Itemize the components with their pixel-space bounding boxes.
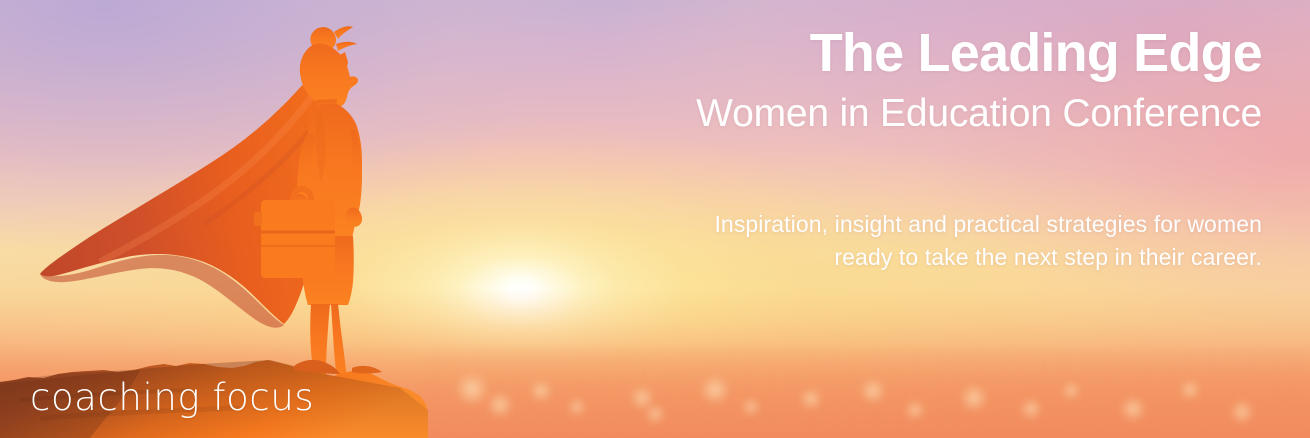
conference-banner: The Leading Edge Women in Education Conf… [0,0,1310,438]
page-title: The Leading Edge [622,0,1262,82]
coaching-focus-logo[interactable]: coaching focus [30,379,314,416]
tagline: Inspiration, insight and practical strat… [622,136,1262,273]
banner-copy: The Leading Edge Women in Education Conf… [622,0,1262,273]
tagline-line-2: ready to take the next step in their car… [622,241,1262,274]
tagline-line-1: Inspiration, insight and practical strat… [622,208,1262,241]
conference-subtitle: Women in Education Conference [622,82,1262,136]
